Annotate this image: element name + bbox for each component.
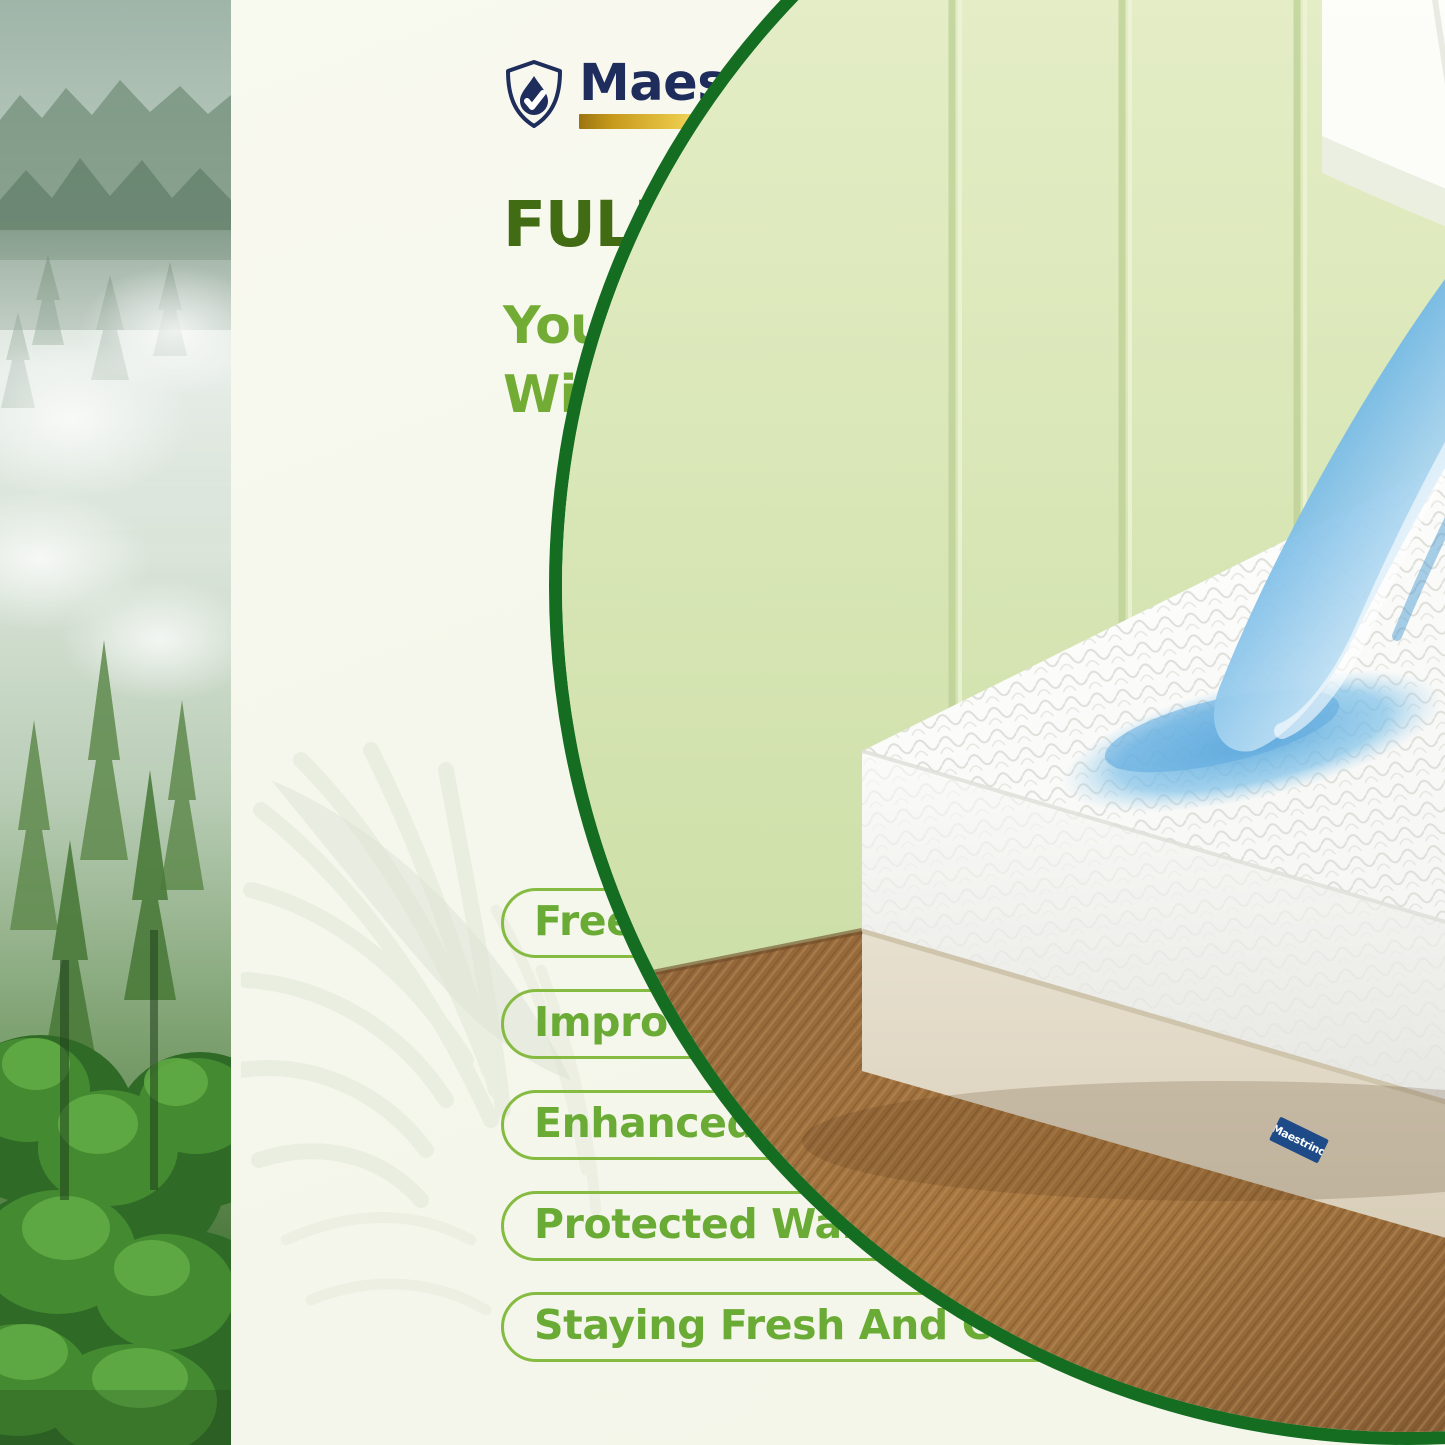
product-poster: Maestrino FULL PROTECTION Your MATTRESS … bbox=[0, 0, 1445, 1445]
product-photo-circle: Maestrino bbox=[549, 0, 1445, 1445]
bedroom-scene-image bbox=[562, 0, 1445, 1445]
shield-droplet-check-icon bbox=[503, 59, 565, 129]
bedroom-scene: Maestrino bbox=[562, 0, 1445, 1445]
forest-image bbox=[0, 0, 231, 1445]
forest-photo-strip bbox=[0, 0, 231, 1445]
